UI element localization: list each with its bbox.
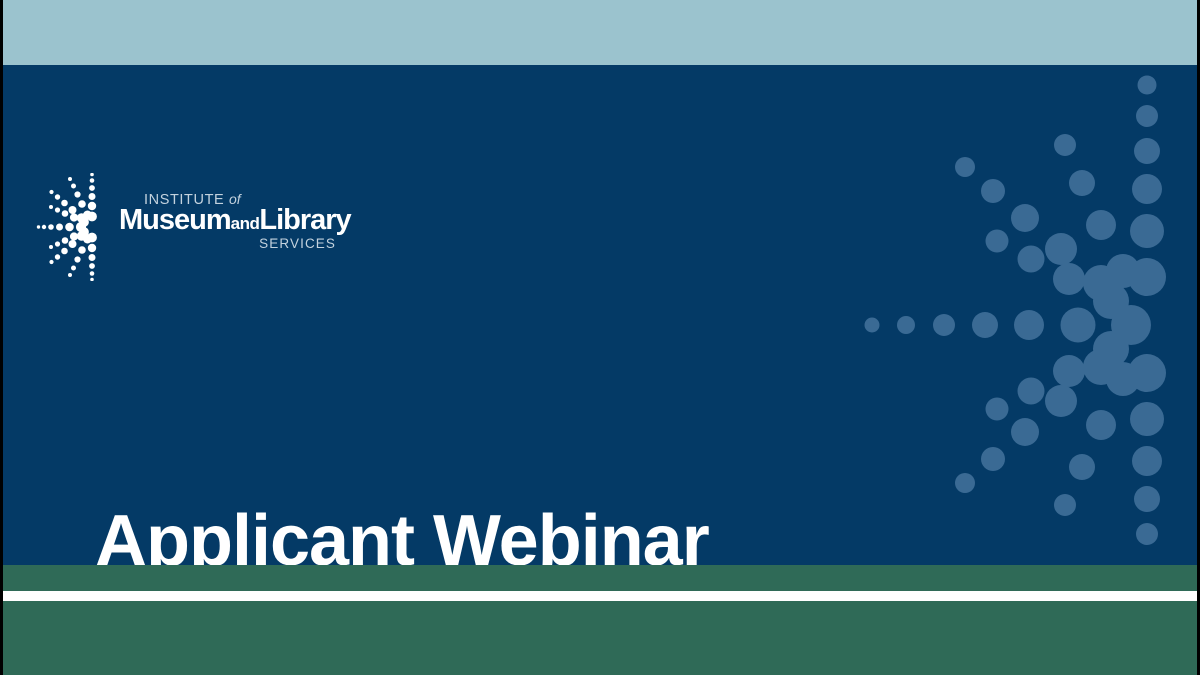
imls-logo: INSTITUTE of MuseumandLibrary SERVICES <box>36 173 336 281</box>
slide-title: Applicant Webinar <box>95 505 709 565</box>
logo-text-library: Library <box>259 204 350 236</box>
logo-text-museum: Museum <box>119 204 231 236</box>
green-upper-band <box>3 565 1197 591</box>
slide-canvas: INSTITUTE of MuseumandLibrary SERVICES A… <box>0 0 1200 675</box>
navy-content-band: INSTITUTE of MuseumandLibrary SERVICES A… <box>3 65 1197 565</box>
starburst-dots-icon <box>36 173 116 281</box>
green-lower-band: FY 2024 <box>3 601 1197 675</box>
imls-wordmark: INSTITUTE of MuseumandLibrary SERVICES <box>119 192 334 262</box>
white-divider-rule <box>3 591 1197 601</box>
logo-text-and: and <box>231 214 260 233</box>
starburst-watermark-icon <box>3 65 1197 565</box>
logo-text-services: SERVICES <box>259 237 336 251</box>
logo-line-museum-and-library: MuseumandLibrary <box>119 206 351 235</box>
top-light-blue-band <box>3 0 1197 65</box>
